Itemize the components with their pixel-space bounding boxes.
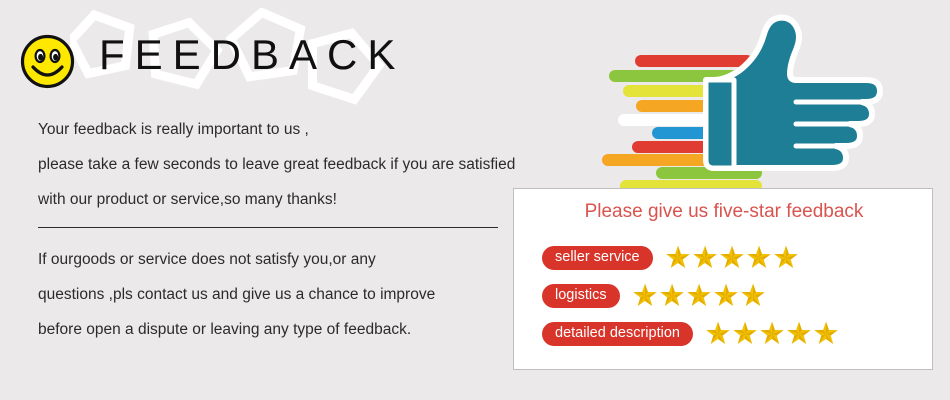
intro-line: Your feedback is really important to us …: [38, 112, 583, 147]
star-icon: [686, 283, 712, 309]
star-rating-seller-service: [665, 245, 800, 271]
star-icon: [746, 245, 772, 271]
thumbs-up-icon: [600, 8, 910, 188]
intro-line: please take a few seconds to leave great…: [38, 147, 583, 182]
star-icon: [740, 283, 766, 309]
dispute-line: before open a dispute or leaving any typ…: [38, 312, 538, 347]
star-icon: [713, 283, 739, 309]
page-title: FEEDBACK: [99, 34, 405, 76]
rating-label-detailed-description: detailed description: [542, 322, 693, 347]
rating-panel-heading: Please give us five-star feedback: [514, 201, 934, 223]
speed-bar: [635, 55, 753, 67]
star-icon: [813, 321, 839, 347]
banner-header: FEEDBACK: [0, 0, 600, 110]
intro-line: with our product or service,so many than…: [38, 182, 583, 217]
rating-label-seller-service: seller service: [542, 246, 653, 271]
dispute-paragraph: If ourgoods or service does not satisfy …: [38, 242, 538, 347]
star-icon: [786, 321, 812, 347]
dispute-line: questions ,pls contact us and give us a …: [38, 277, 538, 312]
rating-row: logistics: [542, 283, 767, 309]
star-icon: [692, 245, 718, 271]
star-icon: [732, 321, 758, 347]
star-icon: [665, 245, 691, 271]
star-rating-logistics: [632, 283, 767, 309]
dispute-line: If ourgoods or service does not satisfy …: [38, 242, 538, 277]
star-icon: [759, 321, 785, 347]
star-icon: [632, 283, 658, 309]
intro-paragraph: Your feedback is really important to us …: [38, 112, 583, 217]
star-icon: [719, 245, 745, 271]
speed-bar: [620, 180, 762, 188]
star-icon: [705, 321, 731, 347]
star-rating-detailed-description: [705, 321, 840, 347]
rating-row: seller service: [542, 245, 800, 271]
rating-label-logistics: logistics: [542, 284, 620, 309]
feedback-banner: FEEDBACK Your feedback is really importa…: [0, 0, 950, 400]
rating-row: detailed description: [542, 321, 840, 347]
smiley-face-icon: [19, 33, 76, 90]
star-icon: [659, 283, 685, 309]
rating-panel: Please give us five-star feedback seller…: [513, 188, 933, 370]
section-divider: [38, 227, 498, 228]
star-icon: [773, 245, 799, 271]
